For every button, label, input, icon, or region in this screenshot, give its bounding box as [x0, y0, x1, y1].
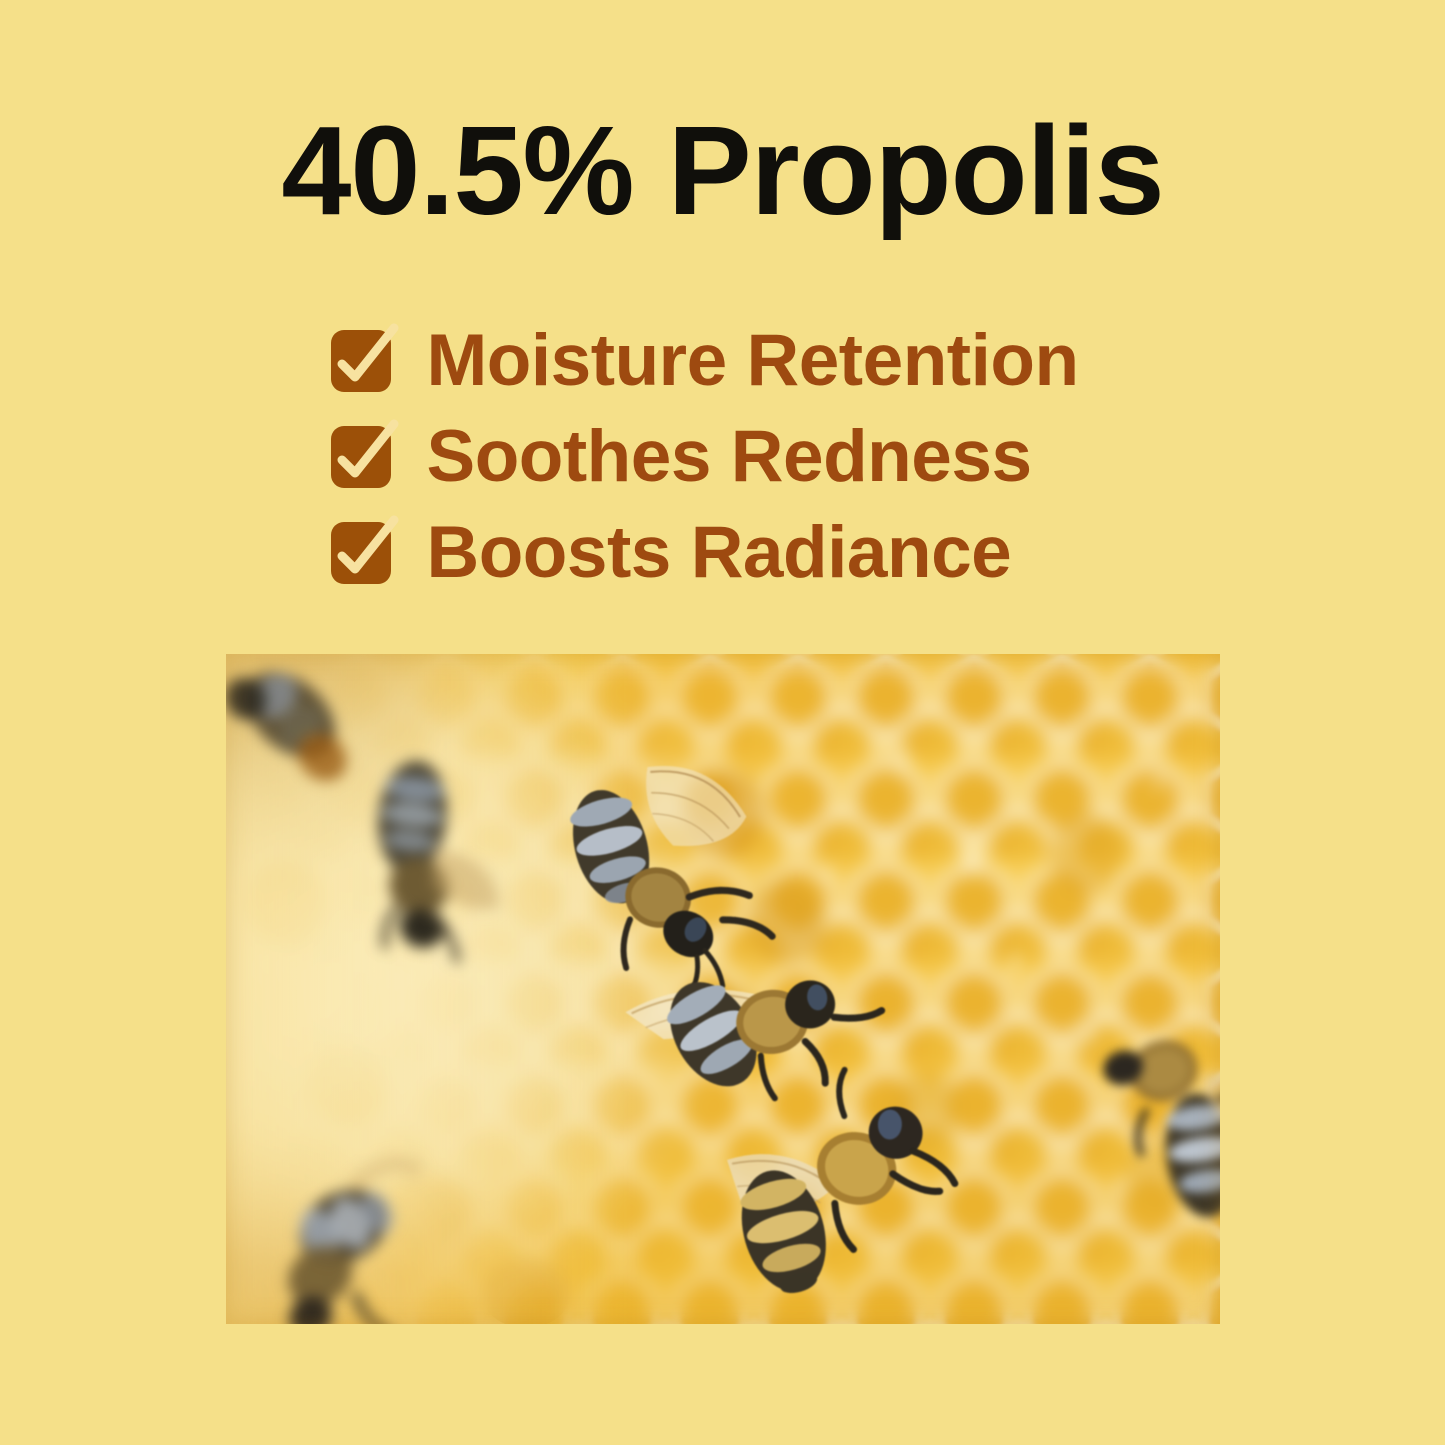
check-square-icon	[331, 522, 391, 584]
list-item: Moisture Retention	[331, 312, 1115, 408]
list-item-label: Moisture Retention	[427, 324, 1079, 397]
page-title: 40.5% Propolis	[0, 108, 1445, 234]
list-item-label: Soothes Redness	[427, 420, 1032, 493]
list-item: Soothes Redness	[331, 408, 1115, 504]
propolis-infographic-poster: 40.5% Propolis Moisture Retention Soothe…	[0, 0, 1445, 1445]
list-item: Boosts Radiance	[331, 504, 1115, 600]
check-square-icon	[331, 330, 391, 392]
benefits-list: Moisture Retention Soothes Redness Boost…	[0, 312, 1445, 600]
check-square-icon	[331, 426, 391, 488]
list-item-label: Boosts Radiance	[427, 516, 1012, 589]
honeycomb-photo	[226, 654, 1220, 1324]
